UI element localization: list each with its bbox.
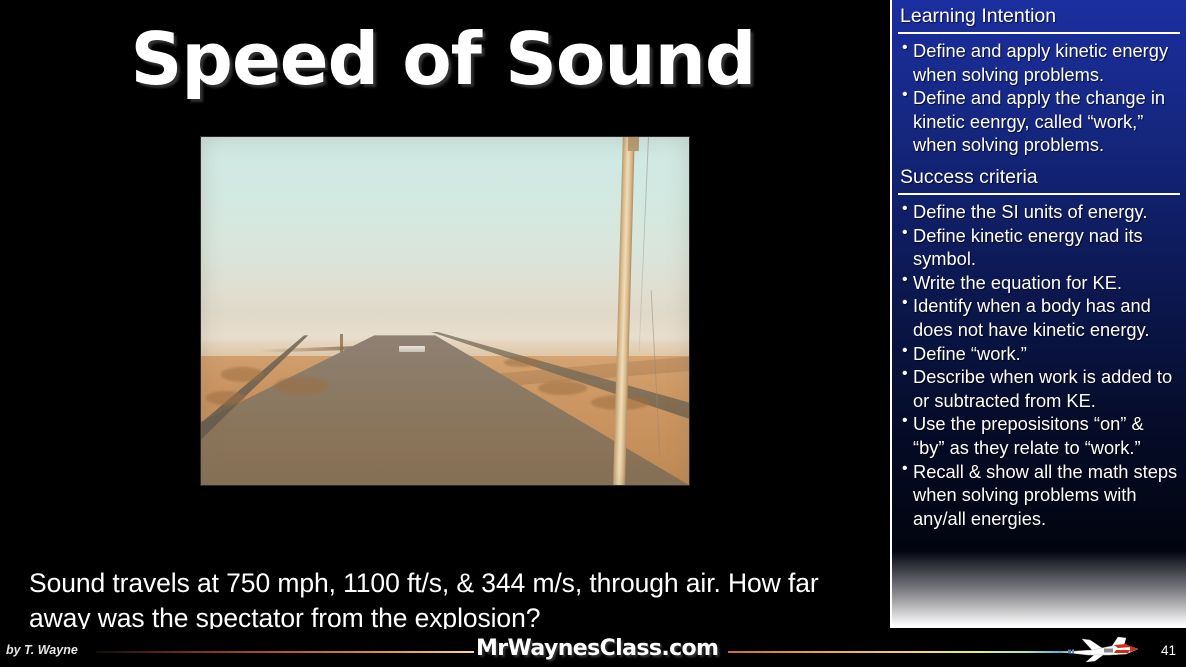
site-name[interactable]: MrWaynesClass.com bbox=[476, 636, 718, 661]
distant-vehicle bbox=[399, 346, 426, 351]
scrub-bush bbox=[504, 358, 538, 367]
roadside-post bbox=[340, 334, 342, 355]
utility-pole-cap bbox=[627, 137, 638, 151]
list-item: Define kinetic energy nad its symbol. bbox=[902, 224, 1178, 271]
list-item: Use the preposisitons “on” & “by” as the… bbox=[902, 412, 1178, 459]
byline: by T. Wayne bbox=[6, 643, 78, 657]
footer-bar: by T. Wayne MrWaynesClass.com 41 bbox=[0, 629, 1186, 667]
list-item: Identify when a body has and does not ha… bbox=[902, 294, 1178, 341]
page-number: 41 bbox=[1161, 643, 1176, 658]
list-item: Define the SI units of energy. bbox=[902, 200, 1178, 224]
list-item: Define “work.” bbox=[902, 342, 1178, 366]
learning-intention-heading: Learning Intention bbox=[892, 2, 1186, 31]
photo-canvas bbox=[201, 137, 689, 485]
learning-intention-list: Define and apply kinetic energy when sol… bbox=[892, 39, 1186, 157]
footer-rule-left bbox=[96, 651, 474, 653]
desert-road-photo bbox=[201, 137, 689, 485]
question-text: Sound travels at 750 mph, 1100 ft/s, & 3… bbox=[29, 566, 865, 636]
page-title: Speed of Sound bbox=[0, 22, 886, 98]
success-criteria-heading: Success criteria bbox=[892, 163, 1186, 192]
scrub-bush bbox=[274, 377, 328, 394]
list-item: Describe when work is added to or subtra… bbox=[902, 365, 1178, 412]
list-item: Write the equation for KE. bbox=[902, 271, 1178, 295]
list-item: Define and apply kinetic energy when sol… bbox=[902, 39, 1178, 86]
scrub-bush bbox=[538, 381, 587, 395]
heading-divider bbox=[898, 32, 1180, 34]
list-item: Define and apply the change in kinetic e… bbox=[902, 86, 1178, 157]
jet-rocket-icon bbox=[1052, 633, 1144, 663]
objectives-panel: Learning Intention Define and apply kine… bbox=[890, 0, 1186, 628]
heading-divider bbox=[898, 193, 1180, 195]
slide: Speed of Sound bbox=[0, 0, 1186, 667]
list-item: Recall & show all the math steps when so… bbox=[902, 460, 1178, 531]
scrub-bush bbox=[206, 391, 245, 405]
footer-rule-right bbox=[728, 651, 1068, 653]
success-criteria-list: Define the SI units of energy. Define ki… bbox=[892, 200, 1186, 530]
